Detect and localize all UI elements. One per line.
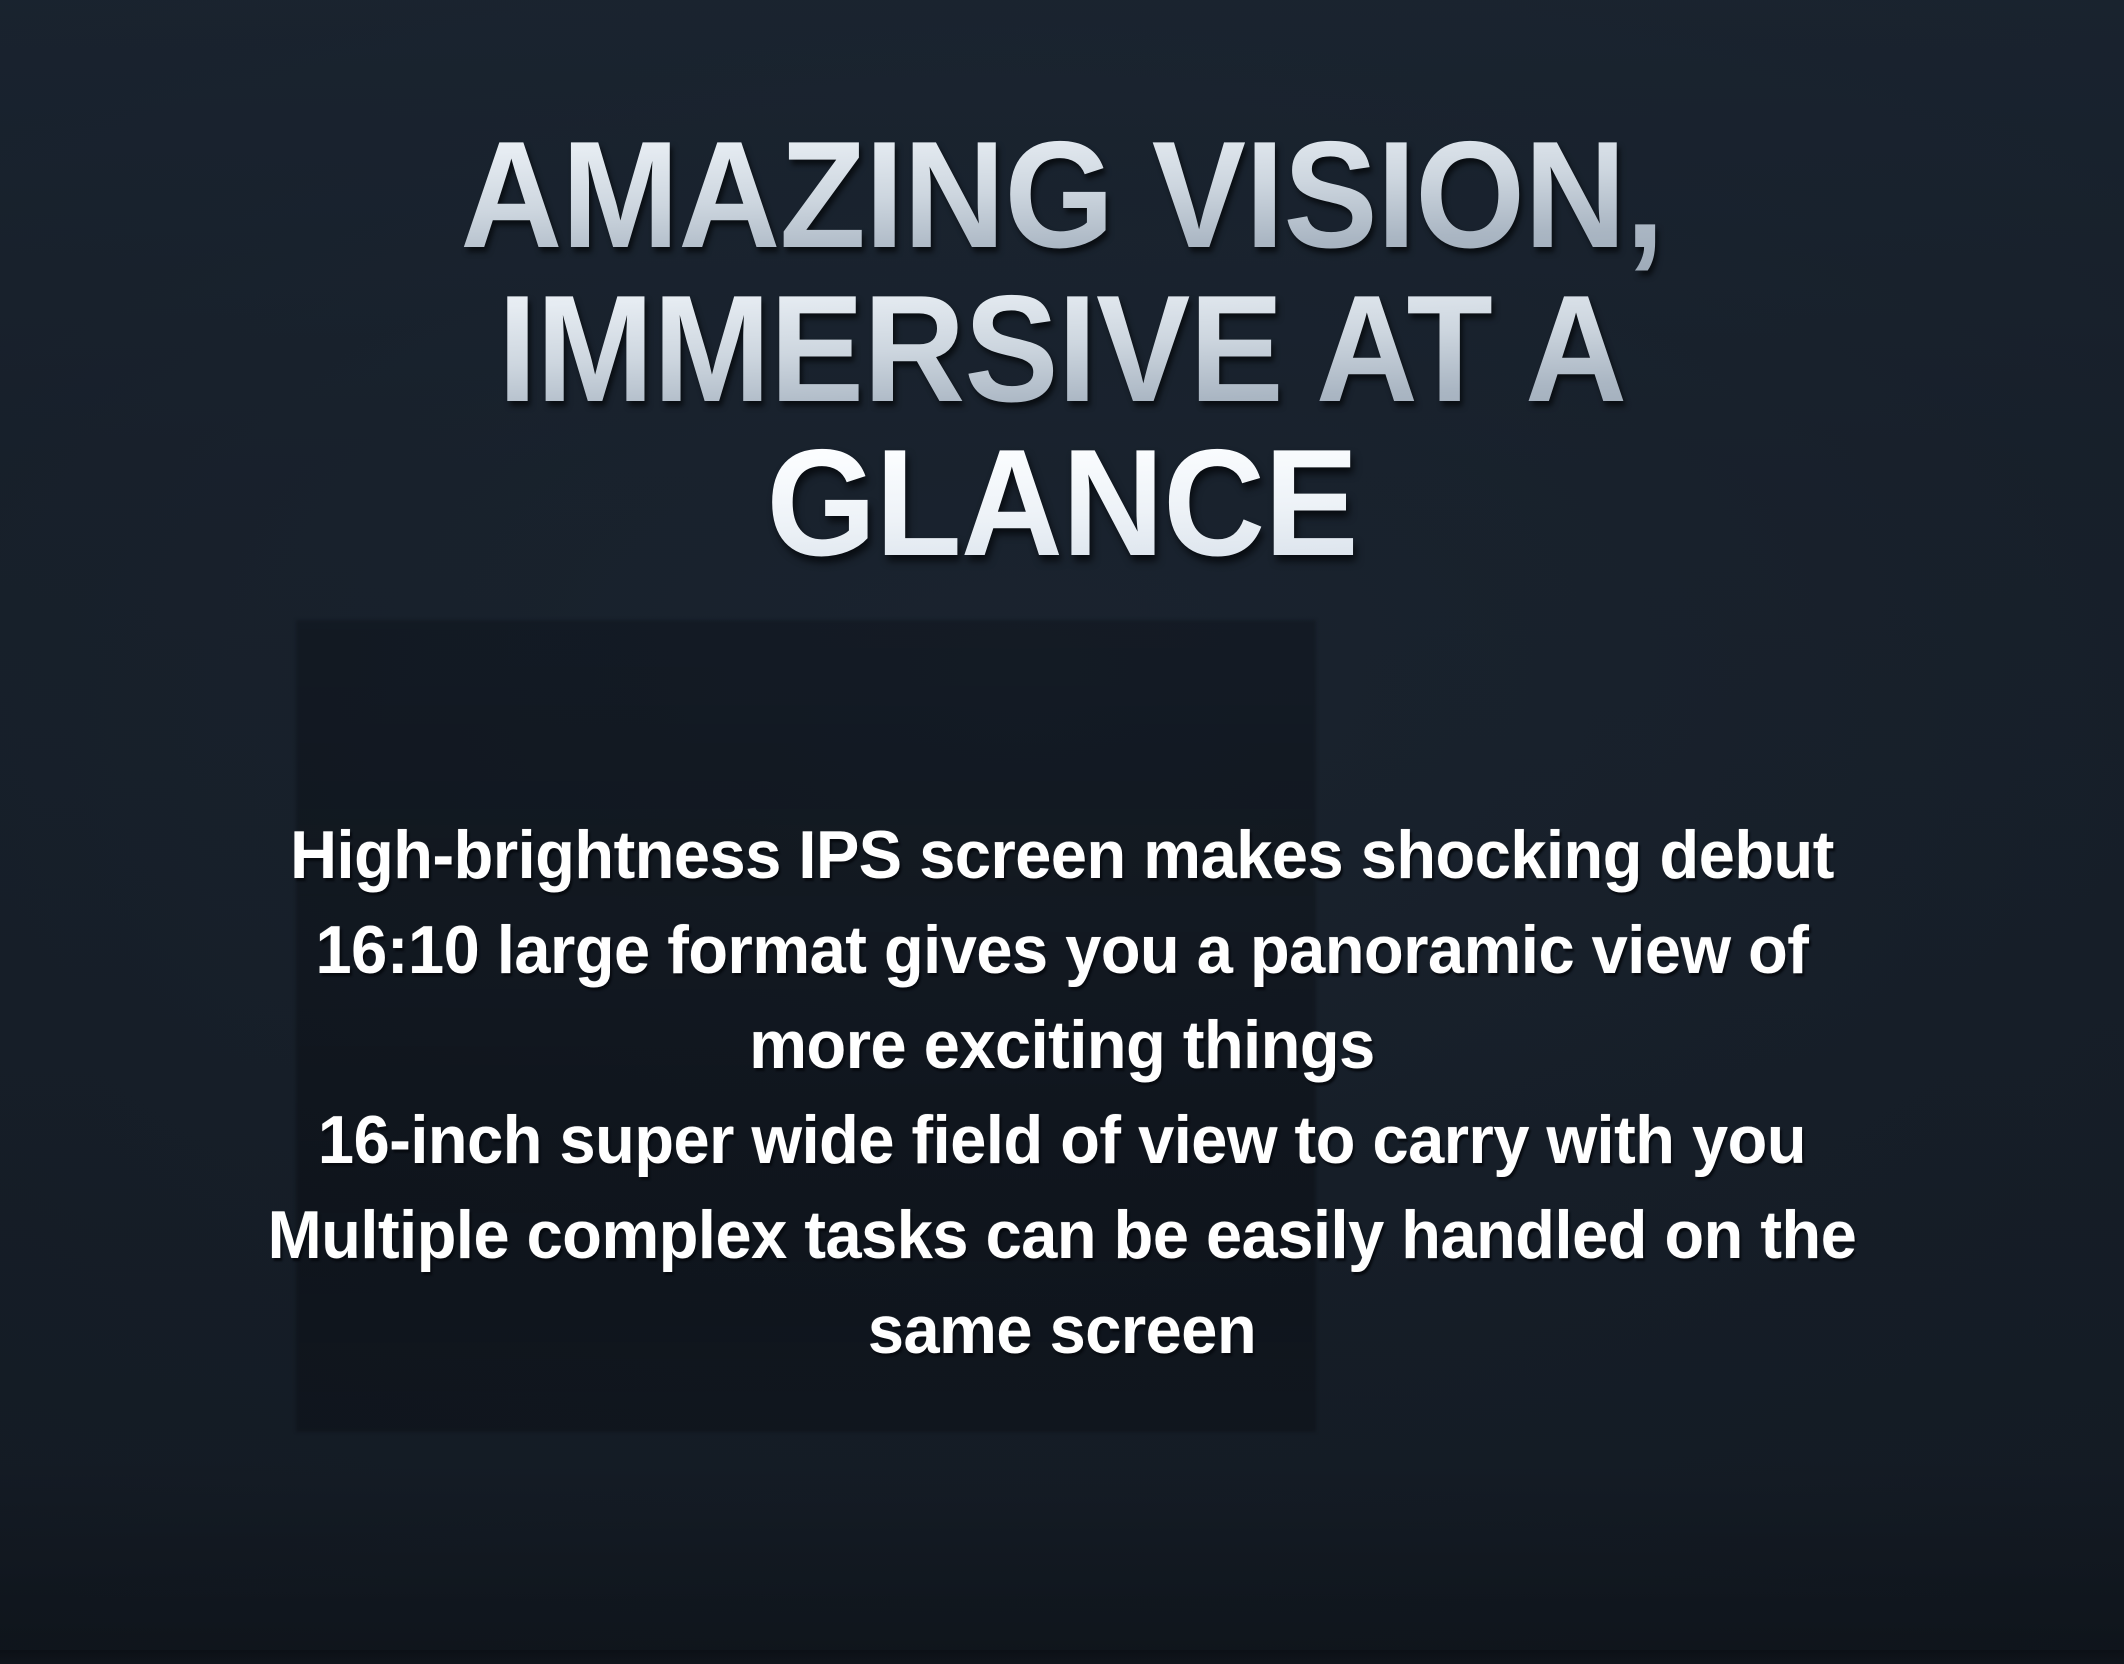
headline-line-1: AMAZING VISION,	[74, 118, 2049, 272]
body-line-1: High-brightness IPS screen makes shockin…	[48, 808, 2076, 903]
body-line-6: same screen	[48, 1283, 2076, 1378]
promo-slide: AMAZING VISION, IMMERSIVE AT A GLANCE Hi…	[0, 0, 2124, 1664]
body-line-5: Multiple complex tasks can be easily han…	[48, 1188, 2076, 1283]
body-line-3: more exciting things	[48, 998, 2076, 1093]
body-line-2: 16:10 large format gives you a panoramic…	[48, 903, 2076, 998]
headline: AMAZING VISION, IMMERSIVE AT A GLANCE	[74, 118, 2049, 580]
headline-line-2: IMMERSIVE AT A	[74, 272, 2049, 426]
slide-content: AMAZING VISION, IMMERSIVE AT A GLANCE Hi…	[0, 0, 2124, 1664]
headline-line-3: GLANCE	[74, 426, 2049, 580]
body-line-4: 16-inch super wide field of view to carr…	[48, 1093, 2076, 1188]
body-copy: High-brightness IPS screen makes shockin…	[48, 808, 2076, 1378]
